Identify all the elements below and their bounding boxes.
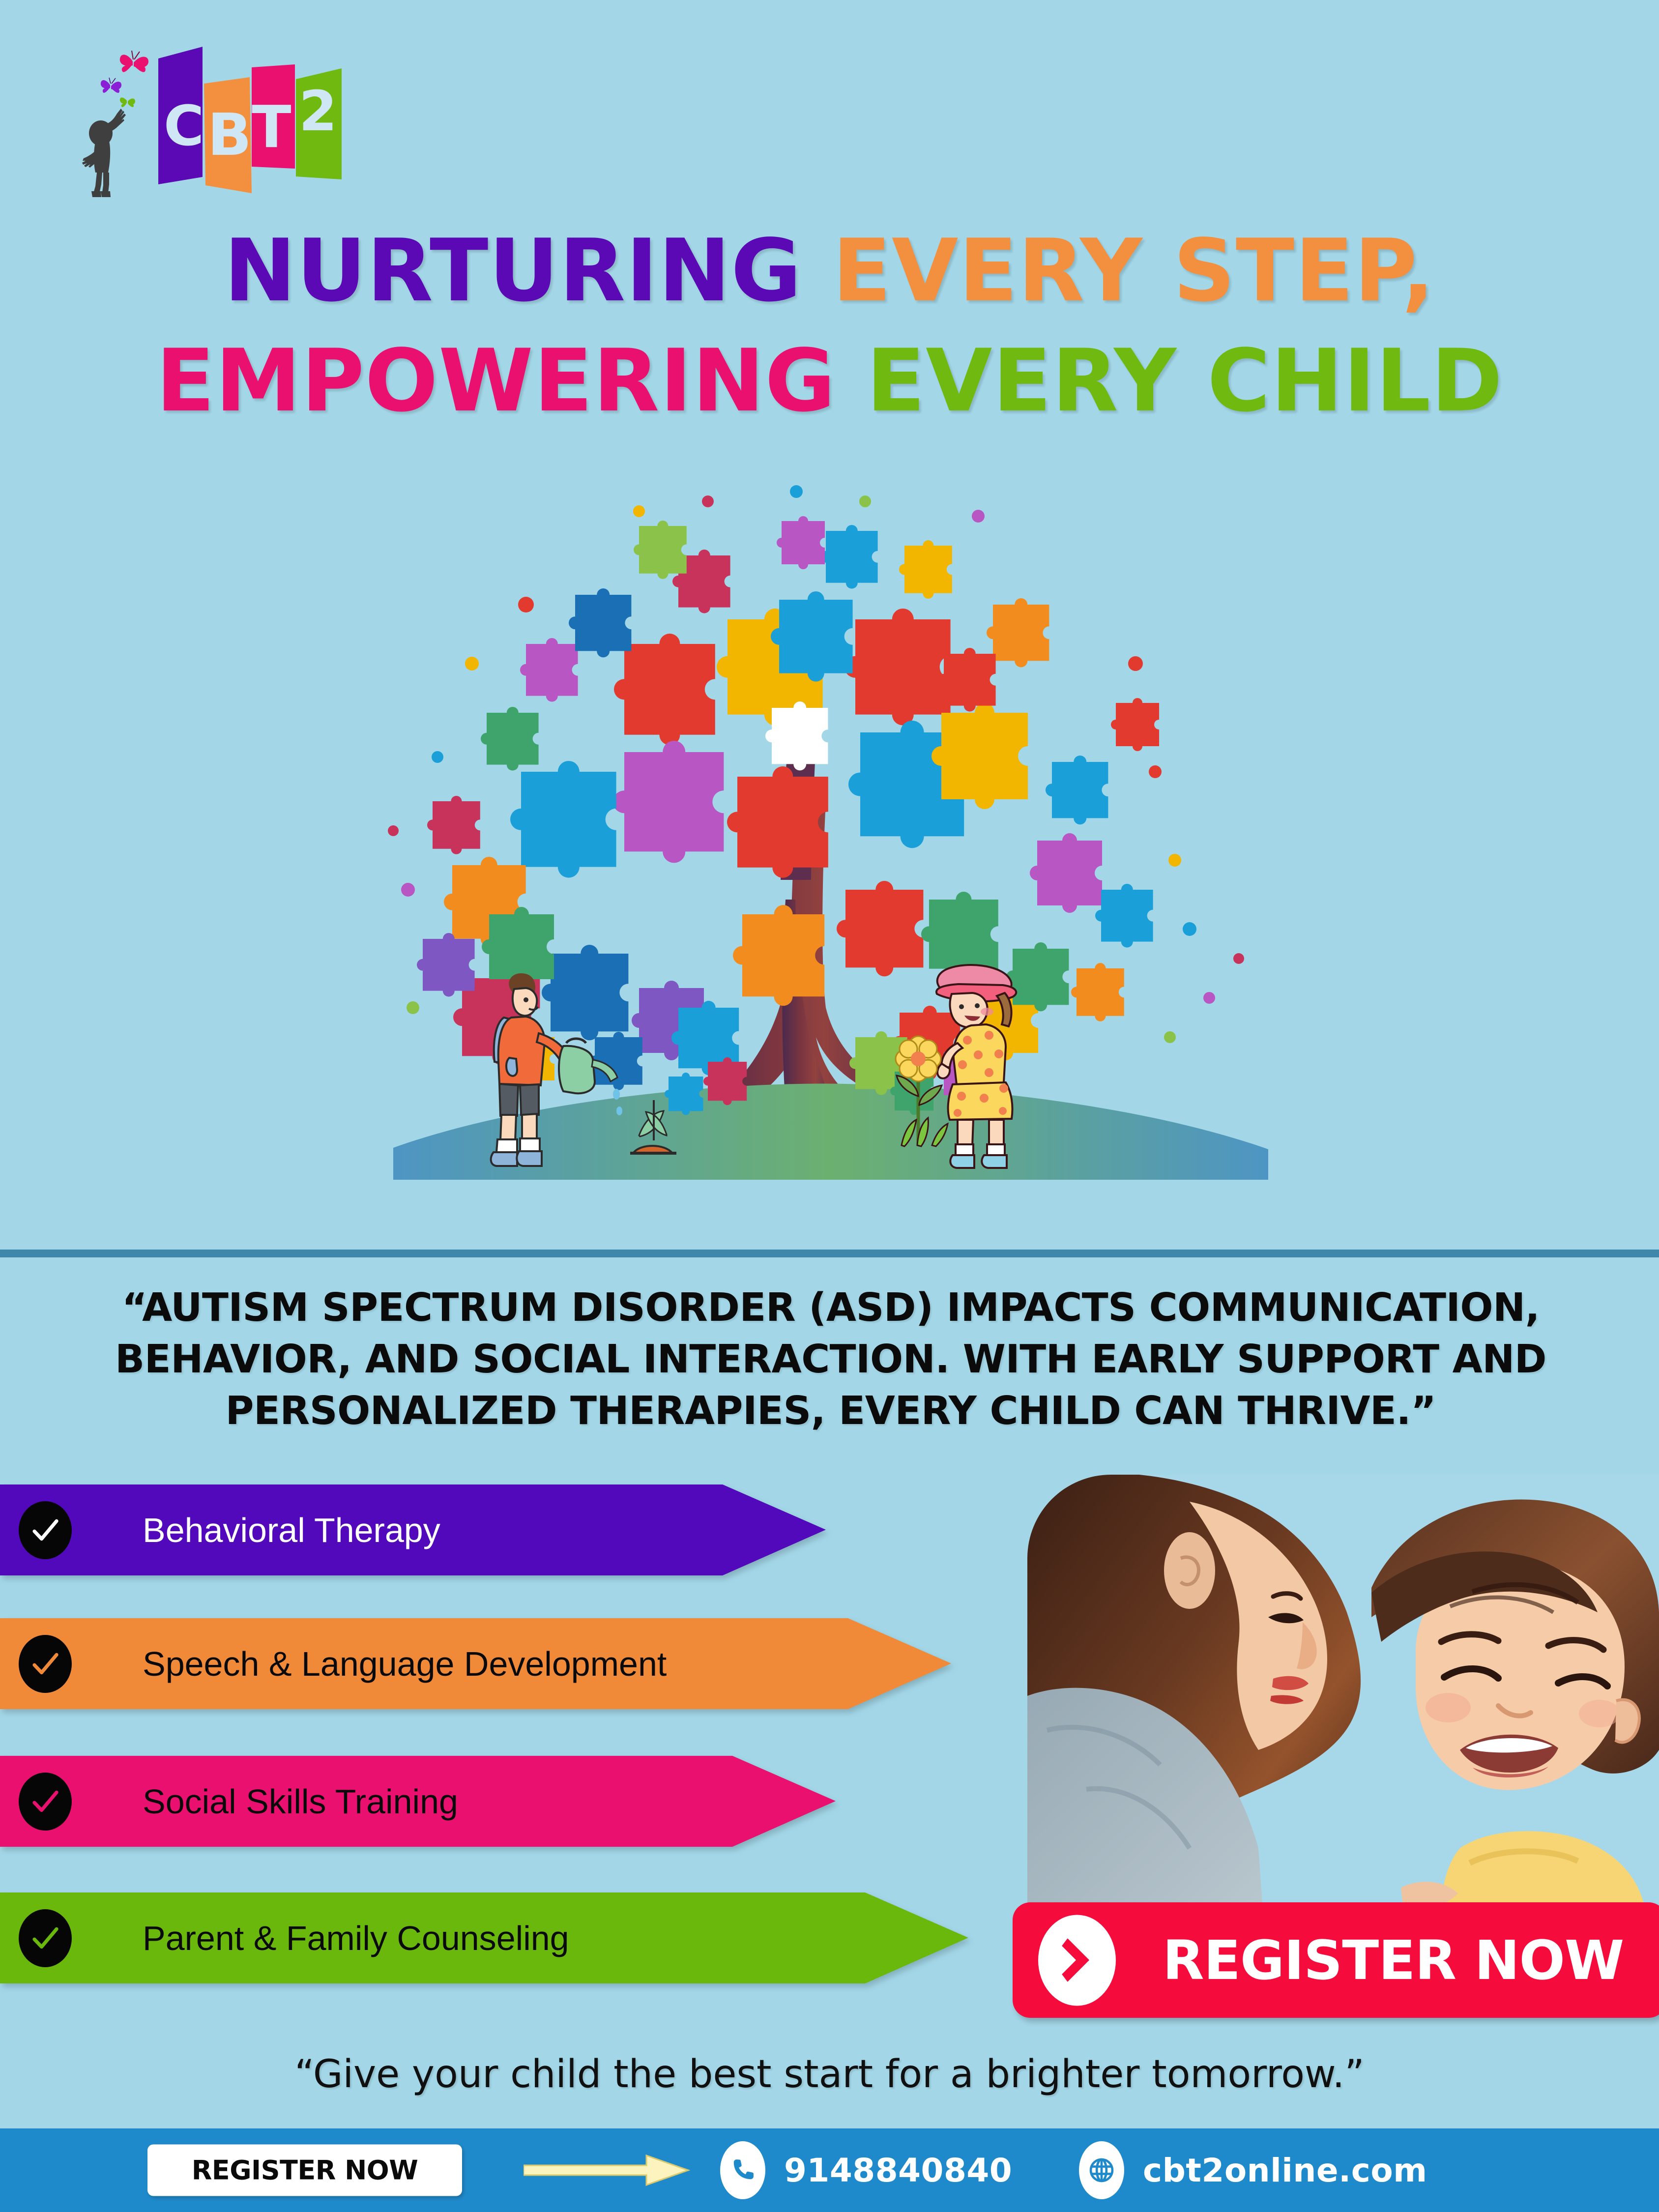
quote-line-2: BEHAVIOR, AND SOCIAL INTERACTION. WITH E…: [84, 1334, 1578, 1385]
check-circle-icon: [19, 1909, 72, 1967]
asd-quote: “AUTISM SPECTRUM DISORDER (ASD) IMPACTS …: [84, 1282, 1578, 1437]
footer-bar: REGISTER NOW 9148840840 cbt2online.com: [0, 2128, 1659, 2212]
logo-letter-2: 2: [299, 80, 337, 144]
check-circle-icon: [19, 1501, 72, 1559]
footer-website[interactable]: cbt2online.com: [1079, 2141, 1427, 2199]
bottom-tagline: “Give your child the best start for a br…: [0, 2052, 1659, 2096]
check-circle-icon: [19, 1635, 72, 1693]
register-now-cta-button[interactable]: REGISTER NOW: [1013, 1902, 1659, 2018]
headline-line-1: NURTURING EVERY STEP,: [0, 216, 1659, 326]
service-banner-behavioral-therapy[interactable]: Behavioral Therapy: [0, 1484, 826, 1575]
headline-line-2: EMPOWERING EVERY CHILD: [0, 326, 1659, 437]
service-banner-social-skills-training[interactable]: Social Skills Training: [0, 1756, 836, 1847]
puzzle-tree-illustration: [364, 457, 1298, 1253]
quote-line-1: “AUTISM SPECTRUM DISORDER (ASD) IMPACTS …: [84, 1282, 1578, 1334]
logo-letter-c: C: [164, 94, 204, 158]
section-divider: [0, 1250, 1659, 1257]
arrow-right-icon: [524, 2151, 691, 2190]
poster-root: C B T 2 NURTURING EVERY STEP, EMPOWERING…: [0, 0, 1659, 2212]
service-label: Parent & Family Counseling: [143, 1919, 569, 1958]
globe-icon: [1079, 2141, 1124, 2199]
headline-every-child: EVERY CHILD: [867, 331, 1503, 431]
headline-every-step: EVERY STEP,: [832, 221, 1435, 321]
phone-icon: [720, 2141, 765, 2199]
footer-register-now-button[interactable]: REGISTER NOW: [147, 2145, 462, 2196]
footer-register-label: REGISTER NOW: [192, 2155, 418, 2186]
headline: NURTURING EVERY STEP, EMPOWERING EVERY C…: [0, 216, 1659, 437]
service-label: Behavioral Therapy: [143, 1511, 440, 1550]
brand-logo[interactable]: C B T 2: [74, 37, 359, 204]
chevron-right-icon: [1038, 1915, 1116, 2006]
butterfly-purple-icon: [101, 78, 121, 93]
quote-line-3: PERSONALIZED THERAPIES, EVERY CHILD CAN …: [84, 1385, 1578, 1437]
highlight-puzzle-piece: [765, 701, 828, 770]
service-label: Social Skills Training: [143, 1782, 458, 1821]
logo-letter-t: T: [252, 93, 291, 161]
check-circle-icon: [19, 1773, 72, 1831]
service-banner-parent-family-counseling[interactable]: Parent & Family Counseling: [0, 1892, 968, 1983]
child-reaching-silhouette: [82, 109, 126, 197]
footer-phone-number: 9148840840: [784, 2152, 1012, 2189]
service-banner-speech-language-development[interactable]: Speech & Language Development: [0, 1618, 951, 1709]
logo-letter-b: B: [207, 101, 252, 169]
footer-website-url: cbt2online.com: [1143, 2152, 1427, 2189]
service-label: Speech & Language Development: [143, 1644, 667, 1684]
butterfly-pink-icon: [120, 51, 148, 72]
headline-empowering: EMPOWERING: [156, 331, 836, 431]
butterfly-green-icon: [120, 97, 135, 107]
services-list: Behavioral Therapy Speech & Language Dev…: [0, 1484, 1013, 2025]
mother-and-child-photo: [1027, 1475, 1659, 1917]
headline-nurturing: NURTURING: [224, 221, 802, 321]
footer-phone[interactable]: 9148840840: [720, 2141, 1012, 2199]
cta-label: REGISTER NOW: [1163, 1929, 1624, 1992]
